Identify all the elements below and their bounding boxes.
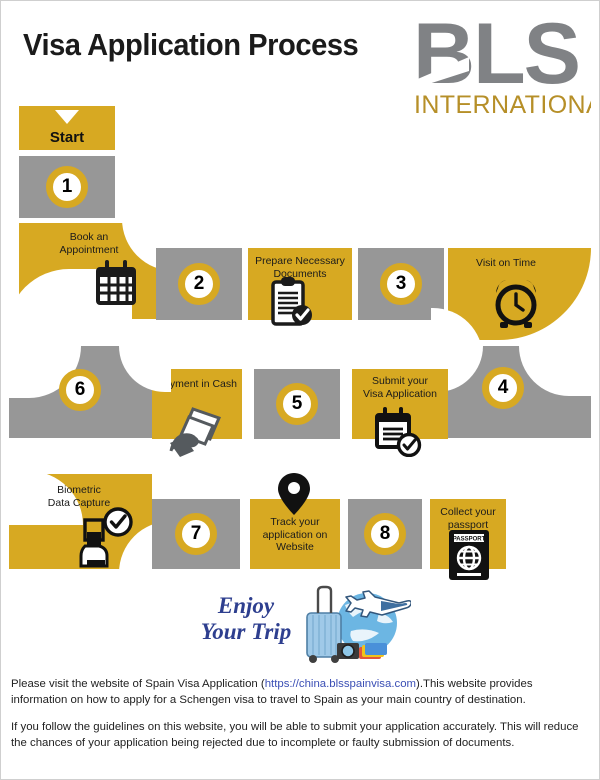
infographic-page: Visa Application Process BLS INTERNATION…: [0, 0, 600, 780]
step-7-number-box: 7: [152, 499, 240, 569]
footer-paragraph-1: Please visit the website of Spain Visa A…: [11, 677, 589, 708]
travel-illustration: [301, 579, 411, 669]
step-4-label: Submit your Visa Application: [352, 375, 448, 400]
step-1-number-box: 1: [19, 156, 115, 218]
page-title: Visa Application Process: [23, 27, 358, 63]
step-2-number: 2: [178, 263, 220, 305]
step-6-number: 6: [59, 369, 101, 411]
step-1-number: 1: [46, 166, 88, 208]
start-label: Start: [19, 129, 115, 146]
form-check-icon: [373, 405, 423, 457]
step-2-number-box: 2: [156, 248, 242, 320]
step-4-number: 4: [482, 367, 524, 409]
svg-text:BLS: BLS: [413, 9, 579, 102]
spain-visa-link[interactable]: https://china.blsspainvisa.com: [265, 678, 416, 690]
step-3-number: 3: [380, 263, 422, 305]
step-8-number: 8: [364, 513, 406, 555]
footer-text: Please visit the website of Spain Visa A…: [11, 677, 589, 763]
step-7-label: Track your application on Website: [250, 516, 340, 554]
step-7-number: 7: [175, 513, 217, 555]
step-5-number: 5: [276, 383, 318, 425]
footer-divider: [1, 669, 599, 670]
down-caret-icon: [55, 110, 79, 124]
logo-subtitle: INTERNATIONAL: [414, 91, 591, 119]
start-tab: Start: [19, 106, 115, 150]
calendar-icon: [94, 259, 138, 309]
enjoy-your-trip-text: Enjoy Your Trip: [181, 593, 311, 645]
step-8-number-box: 8: [348, 499, 422, 569]
bls-international-logo: BLS INTERNATIONAL: [411, 9, 591, 121]
hand-cash-icon: [169, 405, 231, 457]
footer-p1-before: Please visit the website of Spain Visa A…: [11, 678, 265, 690]
fingerprint-check-icon: [73, 506, 135, 568]
step-8-label: Collect your passport: [430, 506, 506, 531]
svg-text:PASSPORT: PASSPORT: [453, 537, 486, 543]
passport-icon: PASSPORT: [447, 529, 491, 581]
step-5-number-box: 5: [254, 369, 340, 439]
map-pin-icon: [276, 471, 312, 517]
clipboard-check-icon: [269, 276, 315, 328]
footer-paragraph-2: If you follow the guidelines on this web…: [11, 720, 589, 751]
alarm-clock-icon: [488, 277, 544, 329]
